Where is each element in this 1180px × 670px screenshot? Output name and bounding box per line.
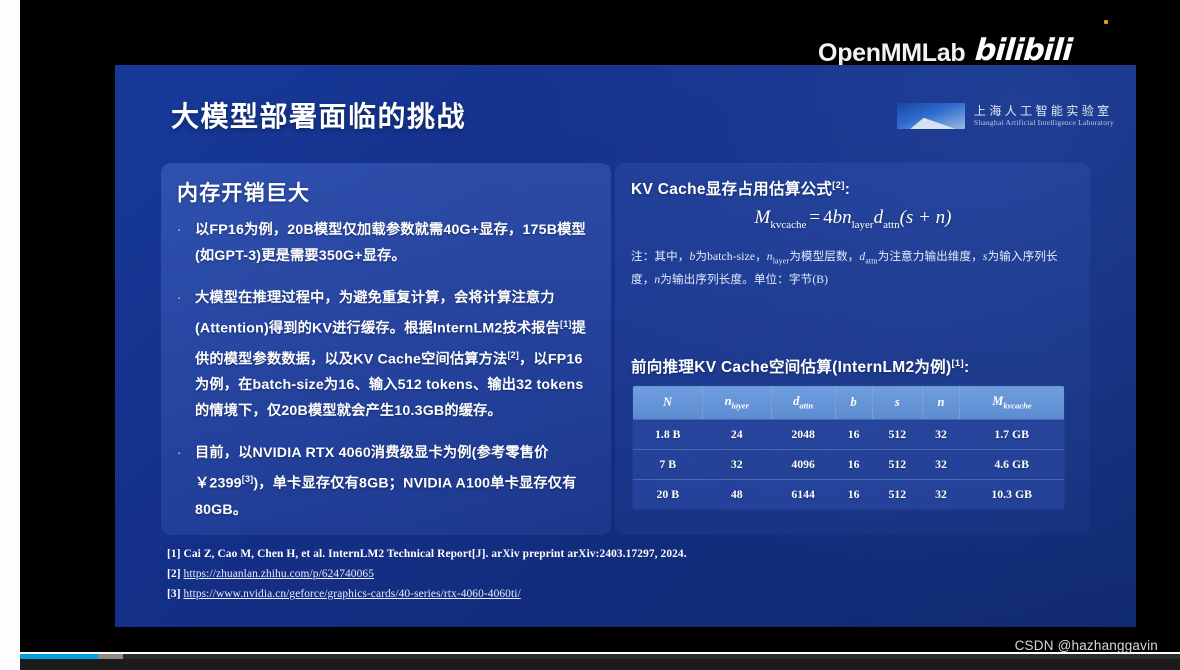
table-cell-c5: 512	[872, 449, 923, 479]
player-control-bar[interactable]	[20, 659, 1180, 670]
table-header-cell-5: s	[872, 386, 923, 420]
table-cell-c2: 32	[703, 449, 772, 479]
table-row: 1.8 B24204816512321.7 GB	[633, 419, 1065, 449]
slide-title: 大模型部署面临的挑战	[171, 95, 466, 135]
mountain-logo-icon	[897, 103, 965, 129]
formula-n-subscript: layer	[852, 219, 874, 231]
bilibili-logo: bilibili	[974, 36, 1073, 66]
presentation-slide: 大模型部署面临的挑战 上海人工智能实验室 Shanghai Artificial…	[115, 65, 1136, 627]
table-header-cell-7: Mkvcache	[959, 386, 1064, 420]
table-cell-c3: 6144	[771, 479, 835, 509]
list-item: · 大模型在推理过程中，为避免重复计算，会将计算注意力(Attention)得到…	[177, 285, 595, 424]
bullet-marker-icon: ·	[177, 217, 195, 269]
screen: OpenMMLab bilibili 大模型部署面临的挑战 上海人工智能实验室 …	[0, 0, 1180, 670]
table-cell-c3: 2048	[771, 419, 835, 449]
kv-heading-superscript: [2]	[832, 180, 845, 191]
table-heading-superscript: [1]	[951, 358, 964, 369]
table-cell-c6: 32	[923, 419, 960, 449]
table-row: 20 B486144165123210.3 GB	[633, 479, 1065, 509]
brand-overlay: OpenMMLab bilibili	[818, 36, 1072, 66]
reference-item-1: [1] Cai Z, Cao M, Chen H, et al. InternL…	[167, 544, 867, 564]
kv-cache-formula-heading: KV Cache显存占用估算公式[2]:	[631, 177, 850, 199]
table-body: 1.8 B24204816512321.7 GB7 B3240961651232…	[633, 419, 1065, 509]
progress-played	[20, 654, 98, 659]
lab-name-cn: 上海人工智能实验室	[974, 105, 1114, 119]
progress-track[interactable]	[20, 654, 1180, 659]
reference-tag: [1]	[167, 548, 184, 560]
formula-n: n	[842, 207, 852, 228]
table-cell-c3: 4096	[771, 449, 835, 479]
table-heading-colon: :	[964, 359, 969, 376]
table-heading-text: 前向推理KV Cache空间估算(InternLM2为例)	[631, 359, 951, 376]
bullet-text-1: 以FP16为例，20B模型仅加载参数就需40G+显存，175B模型(如GPT-3…	[195, 217, 595, 269]
table-cell-c5: 512	[872, 419, 923, 449]
table-cell-c7: 4.6 GB	[959, 449, 1064, 479]
video-progress-bar[interactable]	[20, 654, 1180, 659]
list-item: · 以FP16为例，20B模型仅加载参数就需40G+显存，175B模型(如GPT…	[177, 217, 595, 269]
bullet-text-2: 大模型在推理过程中，为避免重复计算，会将计算注意力(Attention)得到的K…	[195, 285, 595, 424]
formula-note: 注：其中，b为batch-size，nlayer为模型层数，dattn为注意力输…	[631, 247, 1077, 289]
table-cell-c2: 48	[703, 479, 772, 509]
reference-tag: [2]	[167, 568, 184, 580]
reference-item-3[interactable]: [3] https://www.nvidia.cn/geforce/graphi…	[167, 584, 867, 604]
kv-cache-formula: Mkvcache=4bnlayerdattn(s + n)	[631, 207, 1075, 231]
table-cell-c1: 7 B	[633, 449, 703, 479]
formula-coefficient: 4	[823, 207, 833, 228]
memory-overhead-bullet-list: · 以FP16为例，20B模型仅加载参数就需40G+显存，175B模型(如GPT…	[177, 217, 595, 539]
reference-tag: [3]	[167, 588, 184, 600]
bullet-marker-icon: ·	[177, 440, 195, 523]
table-header-cell-4: b	[835, 386, 872, 420]
table-cell-c5: 512	[872, 479, 923, 509]
formula-paren-group: (s + n)	[900, 207, 952, 228]
table-header-row: NnlayerdattnbsnMkvcache	[633, 386, 1065, 420]
table-cell-c4: 16	[835, 419, 872, 449]
table-cell-c7: 1.7 GB	[959, 419, 1064, 449]
formula-equals: =	[806, 207, 823, 228]
bullet-text-3: 目前，以NVIDIA RTX 4060消费级显卡为例(参考零售价￥2399[3]…	[195, 440, 595, 523]
table-row: 7 B32409616512324.6 GB	[633, 449, 1065, 479]
table-header-cell-6: n	[923, 386, 960, 420]
table-cell-c4: 16	[835, 479, 872, 509]
table-cell-c6: 32	[923, 449, 960, 479]
table-cell-c6: 32	[923, 479, 960, 509]
kv-cache-estimation-table: NnlayerdattnbsnMkvcache 1.8 B24204816512…	[632, 385, 1065, 510]
kv-heading-text: KV Cache显存占用估算公式	[631, 181, 832, 198]
formula-d-subscript: attn	[883, 219, 900, 231]
left-section-heading: 内存开销巨大	[177, 177, 310, 207]
video-stage[interactable]: OpenMMLab bilibili 大模型部署面临的挑战 上海人工智能实验室 …	[20, 0, 1180, 652]
reference-text: Cai Z, Cao M, Chen H, et al. InternLM2 T…	[184, 548, 687, 560]
list-item: · 目前，以NVIDIA RTX 4060消费级显卡为例(参考零售价￥2399[…	[177, 440, 595, 523]
table-cell-c1: 1.8 B	[633, 419, 703, 449]
kv-heading-colon: :	[845, 181, 850, 198]
bullet-marker-icon: ·	[177, 285, 195, 424]
table-header-cell-3: dattn	[771, 386, 835, 420]
shanghai-ai-lab-logo: 上海人工智能实验室 Shanghai Artificial Intelligen…	[897, 103, 1114, 129]
formula-b: b	[833, 207, 843, 228]
openmmlab-wordmark: OpenMMLab	[818, 41, 965, 66]
lab-name-en: Shanghai Artificial Intelligence Laborat…	[974, 119, 1114, 128]
table-header-cell-1: N	[633, 386, 703, 420]
formula-d: d	[874, 207, 884, 228]
table-cell-c7: 10.3 GB	[959, 479, 1064, 509]
table-cell-c1: 20 B	[633, 479, 703, 509]
recording-indicator-dot	[1104, 20, 1108, 24]
formula-lhs: M	[755, 207, 771, 228]
table-cell-c2: 24	[703, 419, 772, 449]
reference-link[interactable]: https://zhuanlan.zhihu.com/p/624740065	[184, 568, 374, 580]
csdn-watermark: CSDN @hazhanggavin	[1015, 638, 1158, 653]
reference-link[interactable]: https://www.nvidia.cn/geforce/graphics-c…	[184, 588, 521, 600]
table-header-cell-2: nlayer	[703, 386, 772, 420]
reference-list: [1] Cai Z, Cao M, Chen H, et al. InternL…	[167, 544, 867, 604]
table-section-heading: 前向推理KV Cache空间估算(InternLM2为例)[1]:	[631, 355, 969, 377]
table-cell-c4: 16	[835, 449, 872, 479]
reference-item-2[interactable]: [2] https://zhuanlan.zhihu.com/p/6247400…	[167, 564, 867, 584]
formula-lhs-subscript: kvcache	[770, 219, 806, 231]
